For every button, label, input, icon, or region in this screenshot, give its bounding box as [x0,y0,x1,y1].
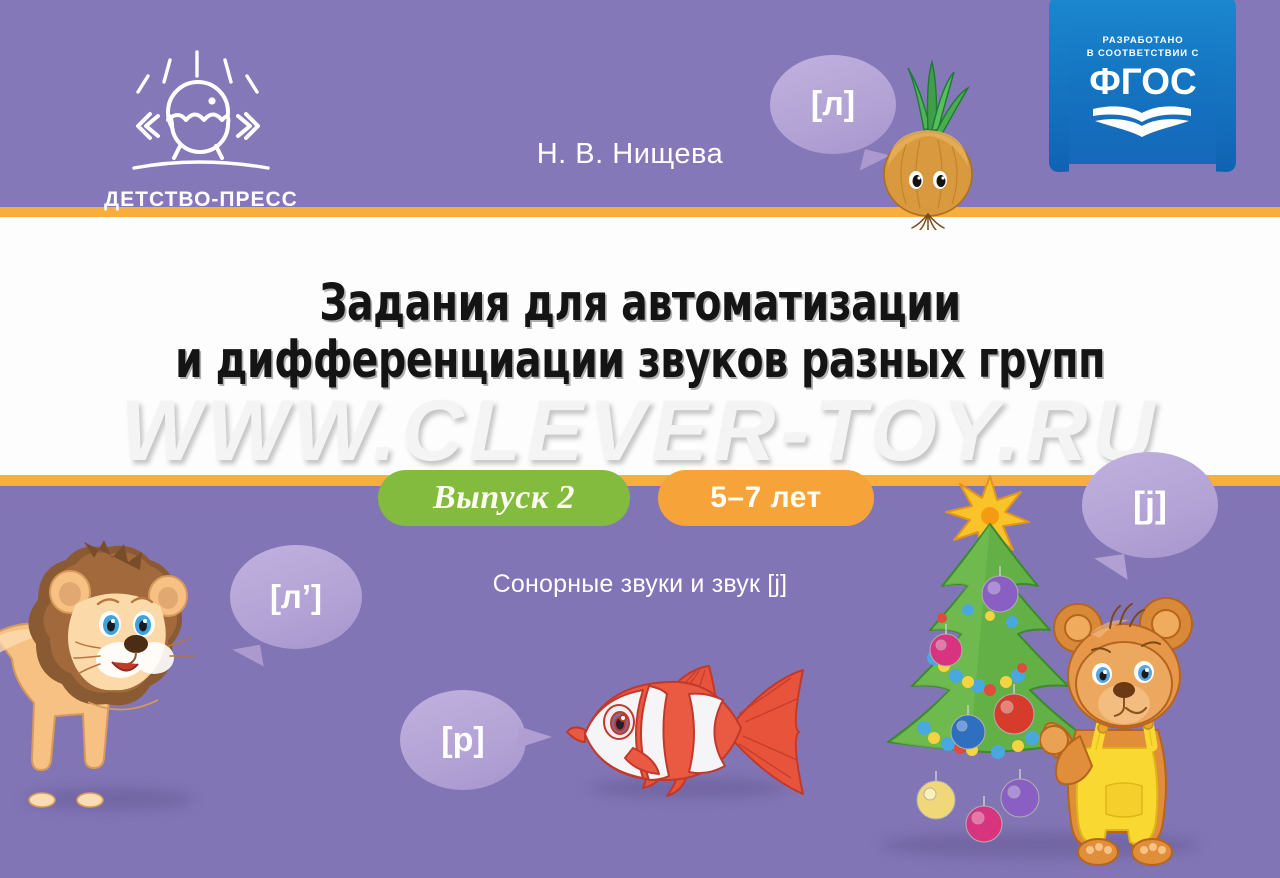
publisher-logo: ДЕТСТВО-ПРЕСС [92,48,310,178]
issue-badge: Выпуск 2 [378,470,630,526]
age-badge: 5–7 лет [658,470,874,526]
bear-illustration [1040,580,1220,870]
bubble-text: [л] [811,85,855,124]
lion-illustration [0,512,212,812]
open-book-icon [1087,104,1199,138]
speech-bubble-j: [j] [1082,452,1218,558]
title-line-1: Задания для автоматизации [90,275,1191,332]
page-title: Задания для автоматизации и дифференциац… [90,275,1191,389]
bubble-text: [р] [441,721,484,760]
chick-in-eggshell-icon [92,48,310,188]
book-cover: ДЕТСТВО-ПРЕСС Н. В. Нищева РАЗРАБОТАНО В… [0,0,1280,878]
bubble-tail [518,726,552,748]
fgos-badge: РАЗРАБОТАНО В СООТВЕТСТВИИ С ФГОС [1063,0,1223,172]
title-line-2: и дифференциации звуков разных групп [90,332,1191,389]
fgos-line-1: РАЗРАБОТАНО [1063,34,1223,47]
fgos-line-2: В СООТВЕТСТВИИ С [1063,47,1223,60]
fgos-abbreviation: ФГОС [1063,62,1223,102]
publisher-name: ДЕТСТВО-ПРЕСС [92,188,310,212]
speech-bubble-l-soft: [л’] [230,545,362,649]
speech-bubble-r: [р] [400,690,526,790]
onion-illustration [862,52,992,230]
bubble-text: [л’] [270,578,322,616]
fish-illustration [563,652,823,802]
bubble-text: [j] [1133,484,1167,526]
bubble-tail [1094,554,1127,584]
